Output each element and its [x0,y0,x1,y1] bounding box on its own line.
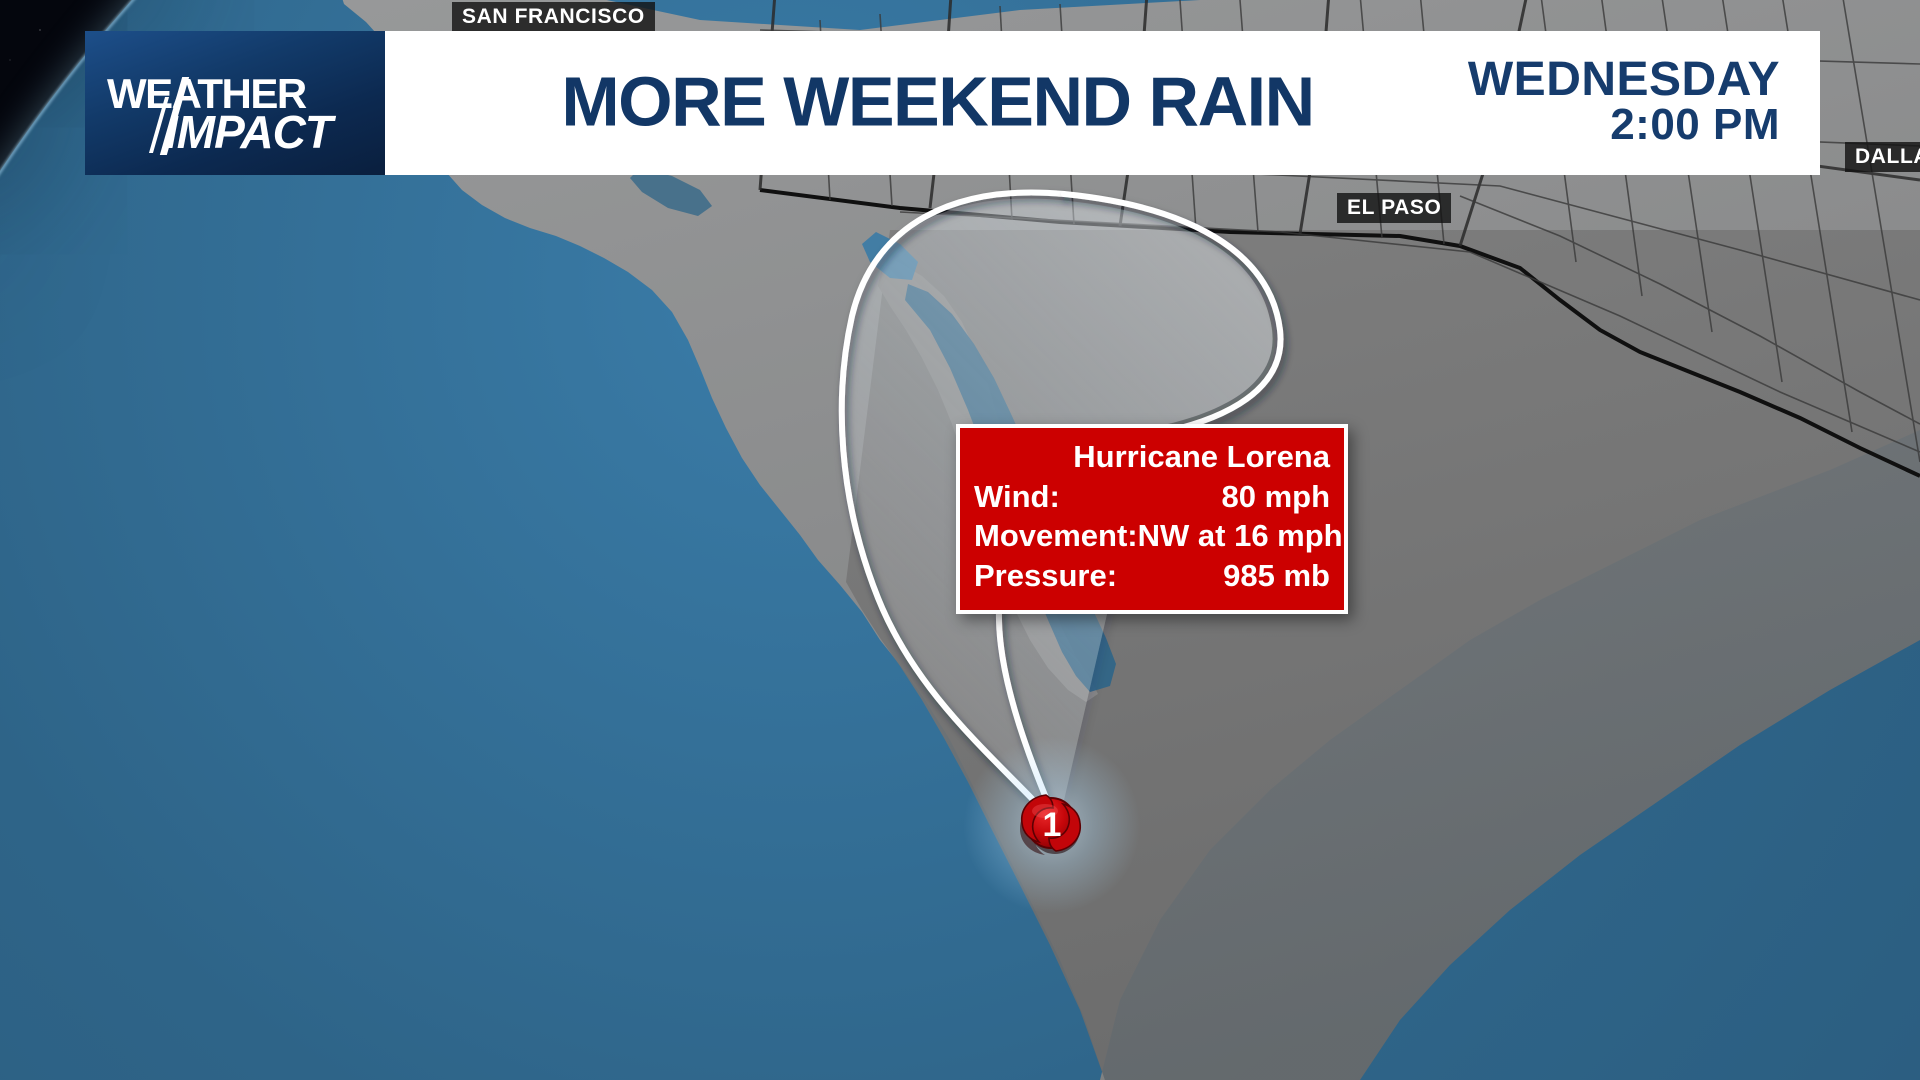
movement-value: NW at 16 mph [1138,516,1343,556]
weather-graphic: 1 Hurricane Lorena Wind: 80 mph Movement… [0,0,1920,1080]
pressure-value: 985 mb [1223,556,1330,596]
pressure-label: Pressure: [974,556,1117,596]
storm-movement-row: Movement: NW at 16 mph [974,516,1330,556]
storm-info-panel: Hurricane Lorena Wind: 80 mph Movement: … [956,424,1348,614]
storm-category-number: 1 [1043,806,1062,844]
wind-label: Wind: [974,477,1060,517]
city-label-dallas: DALLAS [1845,142,1920,172]
storm-pressure-row: Pressure: 985 mb [974,556,1330,596]
weather-impact-logo[interactable]: WEATHER IMPACT [85,31,385,175]
time-label: 2:00 PM [1468,103,1780,146]
wind-value: 80 mph [1221,477,1330,517]
day-label: WEDNESDAY [1468,56,1780,103]
logo-line-impact: IMPACT [165,109,332,155]
mexico-landmass [846,230,1920,1080]
hurricane-cyclone-icon: 1 [1005,783,1101,874]
storm-name: Hurricane Lorena [974,437,1330,477]
storm-wind-row: Wind: 80 mph [974,477,1330,517]
movement-label: Movement: [974,516,1138,556]
city-label-san-francisco: SAN FRANCISCO [452,2,655,32]
day-time-block: WEDNESDAY 2:00 PM [1468,56,1780,146]
title-bar: MORE WEEKEND RAIN WEDNESDAY 2:00 PM [385,31,1820,175]
city-label-el-paso: EL PASO [1337,193,1451,223]
